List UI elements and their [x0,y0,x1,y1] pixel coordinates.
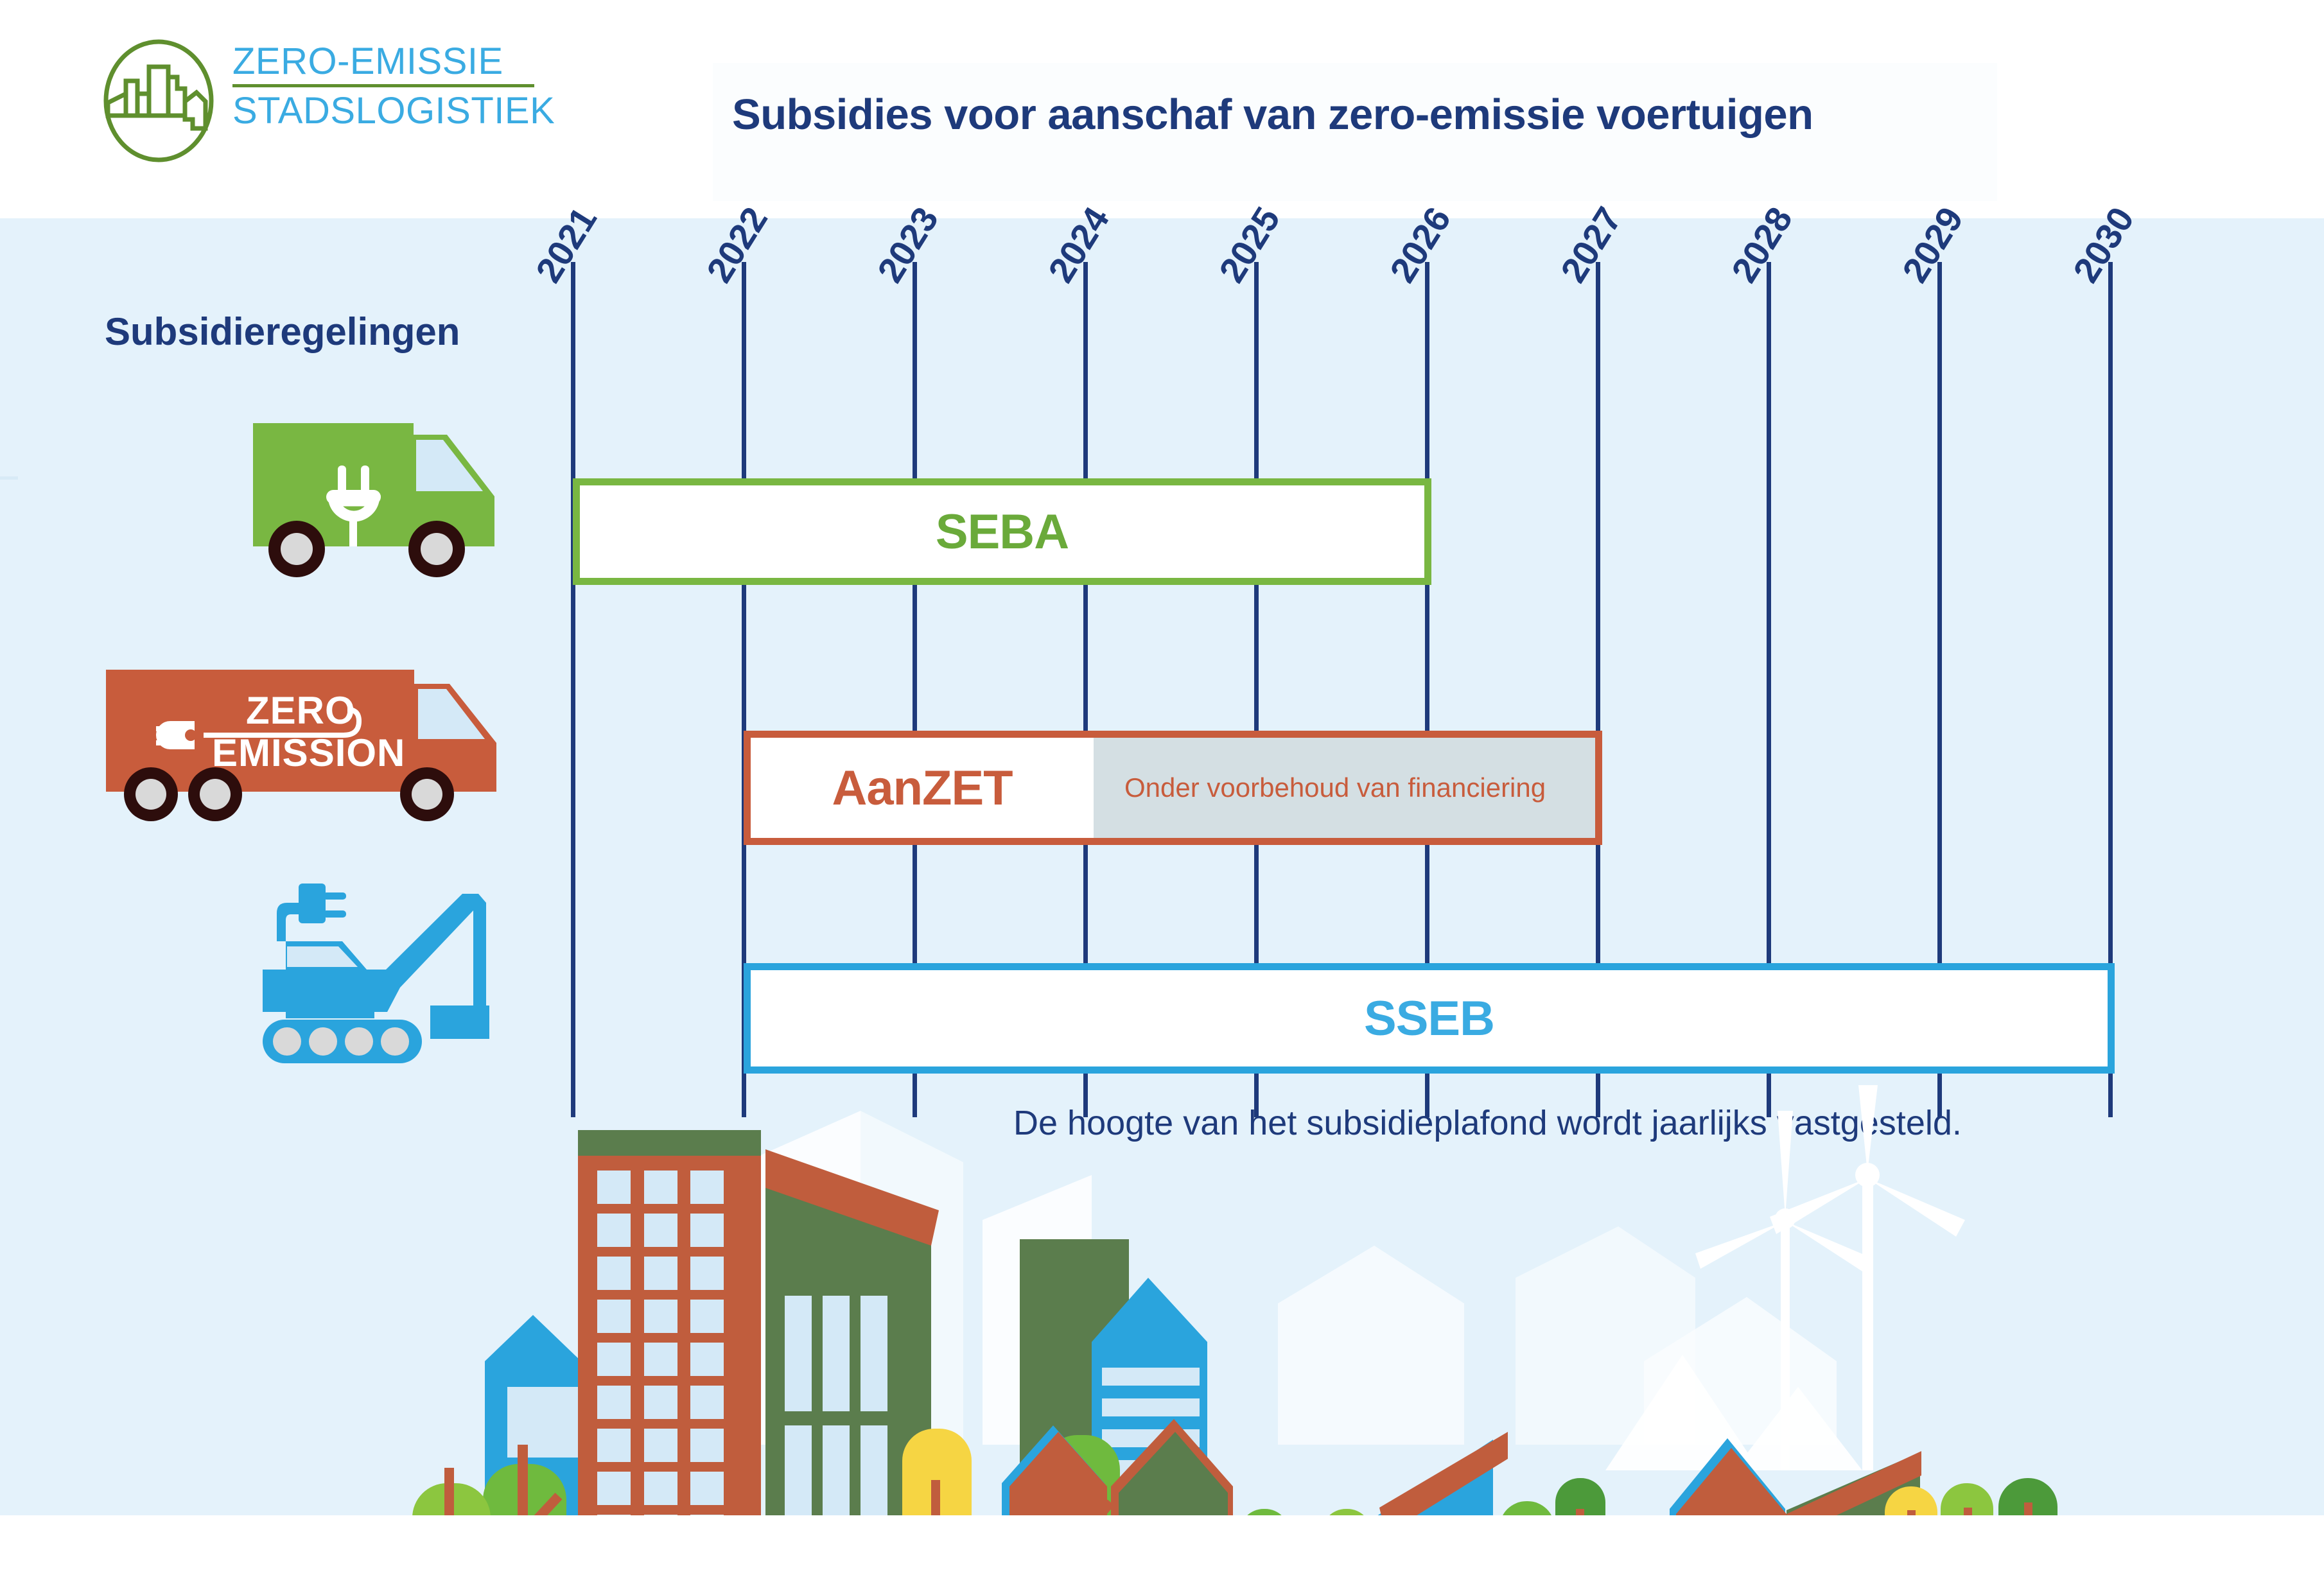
blue-electric-excavator-icon [247,880,523,1075]
timeline-bar-sseb[interactable]: SSEB [744,963,2115,1074]
timeline-gridline-2021 [571,262,575,1117]
logo-divider [232,84,534,87]
logo: ZERO-EMISSIE STADSLOGISTIEK [96,35,533,170]
bar-label-seba: SEBA [936,504,1069,560]
footer-white-strip [0,1515,2324,1593]
green-electric-delivery-van-icon [250,421,520,594]
axis-label-subsidieregelingen: Subsidieregelingen [105,309,460,354]
timeline-bar-seba[interactable]: SEBA [573,478,1431,585]
infographic-root: ZERO-EMISSIE STADSLOGISTIEK Subsidies vo… [0,0,2324,1593]
header: ZERO-EMISSIE STADSLOGISTIEK Subsidies vo… [0,0,2324,218]
truck-badge-emission: EMISSION [212,731,405,774]
tree-yellow [902,1429,972,1522]
page-title: Subsidies voor aanschaf van zero-emissie… [732,90,1991,139]
bar-label-sseb: SSEB [1364,991,1494,1047]
logo-line-stadslogistiek: STADSLOGISTIEK [232,92,534,130]
logo-line-zero-emissie: ZERO-EMISSIE [232,43,534,80]
cityscape-illustration: ZERO EMISSION [0,1085,2324,1522]
aanzet-label-cell: AanZET [751,738,1094,838]
city-skyline-in-circle-icon [96,39,225,164]
logo-text: ZERO-EMISSIE STADSLOGISTIEK [232,43,534,130]
aanzet-annotation-cell: Onder voorbehoud van financiering [1094,738,1595,838]
bar-label-aanzet: AanZET [832,760,1012,816]
tree [412,1468,491,1522]
orange-zero-emission-truck-icon: ZERO EMISSION [100,665,523,838]
timeline-bar-aanzet[interactable]: AanZET Onder voorbehoud van financiering [744,731,1602,845]
aanzet-annotation-text: Onder voorbehoud van financiering [1124,772,1546,803]
truck-badge-zero: ZERO [246,689,356,732]
left-edge-tick [0,476,18,480]
